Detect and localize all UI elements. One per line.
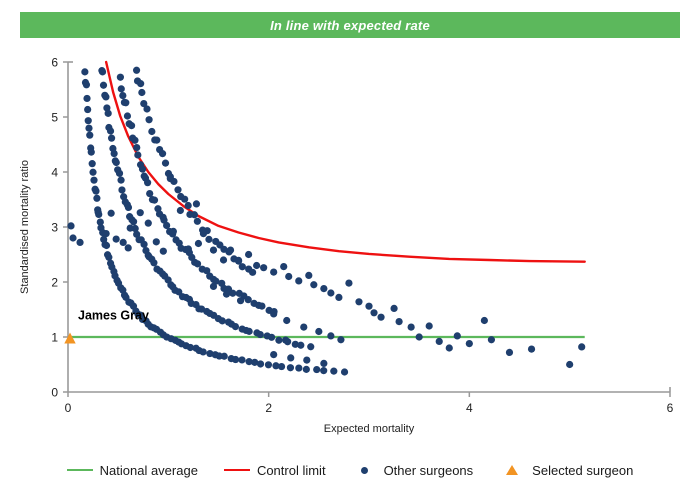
surgeon-point [159,150,166,157]
x-tick-label: 4 [466,401,473,415]
surgeon-point [95,209,102,216]
surgeon-point [150,259,157,266]
surgeon-point [270,269,277,276]
legend-label: Control limit [257,463,326,478]
surgeon-point [506,349,513,356]
surgeon-point [130,218,137,225]
surgeon-point [578,343,585,350]
y-tick-label: 6 [51,56,58,70]
surgeon-point [138,89,145,96]
surgeon-point [86,132,93,139]
surgeon-point [116,170,123,177]
surgeon-point [268,334,275,341]
surgeon-point [249,269,256,276]
surgeon-point [221,353,228,360]
funnel-plot-page: In line with expected rate 01234560246Ex… [0,0,700,500]
surgeon-point [355,298,362,305]
legend-line-icon [67,469,93,471]
surgeon-point [85,125,92,132]
surgeon-point [167,175,174,182]
y-tick-label: 3 [51,221,58,235]
surgeon-point [210,247,217,254]
surgeon-point [310,281,317,288]
surgeon-point [466,340,473,347]
surgeon-point [245,251,252,258]
surgeon-point [229,290,236,297]
surgeon-point [426,322,433,329]
surgeon-point [119,92,126,99]
surgeon-point [257,360,264,367]
surgeon-point [200,348,207,355]
legend-item-other-surgeons[interactable]: Other surgeons [352,463,474,478]
surgeon-point [408,324,415,331]
surgeon-point [69,234,76,241]
surgeon-point [107,127,114,134]
surgeon-point [315,328,322,335]
surgeon-point [335,294,342,301]
surgeon-point [365,303,372,310]
surgeon-point [125,204,132,211]
surgeon-point [99,68,106,75]
surgeon-point [481,317,488,324]
surgeon-point [125,244,132,251]
surgeon-point [390,305,397,312]
surgeon-point [113,159,120,166]
surgeon-point [131,137,138,144]
legend-item-control-limit[interactable]: Control limit [224,463,326,478]
surgeon-point [117,177,124,184]
selected-surgeon-label: James Gray [78,308,149,322]
surgeon-point [416,333,423,340]
surgeon-point [278,363,285,370]
surgeon-point [253,262,260,269]
chart-container: 01234560246Expected mortalityStandardise… [0,0,700,500]
surgeon-point [195,240,202,247]
surgeon-point [118,186,125,193]
surgeon-point [223,291,230,298]
x-axis-title: Expected mortality [324,423,415,435]
surgeon-point [118,85,125,92]
surgeon-point [81,68,88,75]
surgeon-point [341,368,348,375]
surgeon-point [307,343,314,350]
x-tick-label: 0 [65,401,72,415]
surgeon-point [303,357,310,364]
surgeon-point [232,356,239,363]
y-tick-label: 2 [51,276,58,290]
surgeon-point [283,317,290,324]
surgeon-point [295,364,302,371]
surgeon-point [193,200,200,207]
surgeon-point [396,318,403,325]
surgeon-point [377,314,384,321]
legend-label: National average [100,463,198,478]
surgeon-point [170,228,177,235]
legend-label: Selected surgeon [532,463,633,478]
surgeon-point [320,360,327,367]
surgeon-point [219,317,226,324]
surgeon-point [83,81,90,88]
surgeon-point [139,166,146,173]
surgeon-point [185,202,192,209]
surgeon-point [232,323,239,330]
surgeon-point [177,207,184,214]
funnel-plot-svg: 01234560246Expected mortalityStandardise… [0,0,700,500]
surgeon-point [185,245,192,252]
surgeon-point [446,344,453,351]
surgeon-point [89,160,96,167]
surgeon-point [454,332,461,339]
surgeon-point [300,324,307,331]
surgeon-point [210,283,217,290]
surgeon-point [295,277,302,284]
surgeon-point [153,238,160,245]
surgeon-point [92,187,99,194]
legend-item-selected-surgeon[interactable]: Selected surgeon [499,463,633,478]
legend-triangle-icon [506,465,518,475]
surgeon-point [120,239,127,246]
surgeon-point [153,137,160,144]
surgeon-point [528,346,535,353]
surgeon-point [134,151,141,158]
surgeon-point [303,366,310,373]
surgeon-point [111,150,118,157]
surgeon-point [88,149,95,156]
surgeon-point [133,67,140,74]
surgeon-point [270,310,277,317]
x-tick-label: 6 [667,401,674,415]
surgeon-point [108,210,115,217]
legend-dot-icon [361,467,368,474]
surgeon-point [174,186,181,193]
surgeon-point [260,264,267,271]
surgeon-point [85,117,92,124]
surgeon-point [137,209,144,216]
y-tick-label: 0 [51,386,58,400]
surgeon-point [105,110,112,117]
surgeon-point [345,280,352,287]
surgeon-point [103,242,110,249]
surgeon-point [246,328,253,335]
surgeon-point [265,361,272,368]
surgeon-point [145,116,152,123]
surgeon-point [117,74,124,81]
legend-item-national-average[interactable]: National average [67,463,198,478]
surgeon-point [327,289,334,296]
surgeon-point [194,218,201,225]
surgeon-point [287,364,294,371]
surgeon-point [124,112,131,119]
surgeon-point [133,144,140,151]
surgeon-point [287,354,294,361]
surgeon-point [258,302,265,309]
legend-label: Other surgeons [384,463,474,478]
surgeon-point [93,195,100,202]
surgeon-point [320,285,327,292]
surgeon-point [436,338,443,345]
surgeon-point [127,225,134,232]
surgeon-point [305,272,312,279]
surgeon-point [90,177,97,184]
control-limit-curve [106,62,585,262]
surgeon-point [143,105,150,112]
surgeon-point [327,332,334,339]
surgeon-point [148,128,155,135]
surgeon-point [235,258,242,265]
surgeon-point [237,297,244,304]
surgeon-point [100,82,107,89]
surgeon-point [76,239,83,246]
surgeon-point [238,356,245,363]
surgeon-point [227,247,234,254]
surgeon-point [102,93,109,100]
surgeon-point [370,309,377,316]
legend-line-icon [224,469,250,471]
chart-legend: National averageControl limitOther surge… [0,455,700,485]
surgeon-point [220,256,227,263]
y-tick-label: 1 [51,331,58,345]
y-axis-title: Standardised mortality ratio [19,160,31,294]
surgeon-point [160,248,167,255]
surgeon-point [313,366,320,373]
surgeon-point [151,197,158,204]
surgeon-point [67,222,74,229]
surgeon-point [89,169,96,176]
surgeon-point [181,196,188,203]
surgeon-point [566,361,573,368]
surgeon-point [122,99,129,106]
surgeon-point [488,336,495,343]
surgeon-point [330,368,337,375]
surgeon-point [285,273,292,280]
x-tick-label: 2 [265,401,272,415]
surgeon-point [84,106,91,113]
surgeon-point [113,236,120,243]
surgeon-point [284,338,291,345]
surgeon-point [145,220,152,227]
surgeon-point [270,351,277,358]
surgeon-point [337,336,344,343]
surgeon-point [162,160,169,167]
surgeon-point [200,230,207,237]
y-tick-label: 5 [51,111,58,125]
surgeon-point [144,179,151,186]
surgeon-point [128,122,135,129]
surgeon-point [320,367,327,374]
surgeon-point [257,331,264,338]
surgeon-point [103,230,110,237]
surgeon-point [108,135,115,142]
surgeon-point [205,236,212,243]
surgeon-point [275,337,282,344]
surgeon-point [280,263,287,270]
y-tick-label: 4 [51,166,58,180]
surgeon-point [297,342,304,349]
other-surgeons-points [67,67,585,376]
surgeon-point [140,241,147,248]
surgeon-point [191,211,198,218]
surgeon-point [83,95,90,102]
surgeon-point [137,80,144,87]
